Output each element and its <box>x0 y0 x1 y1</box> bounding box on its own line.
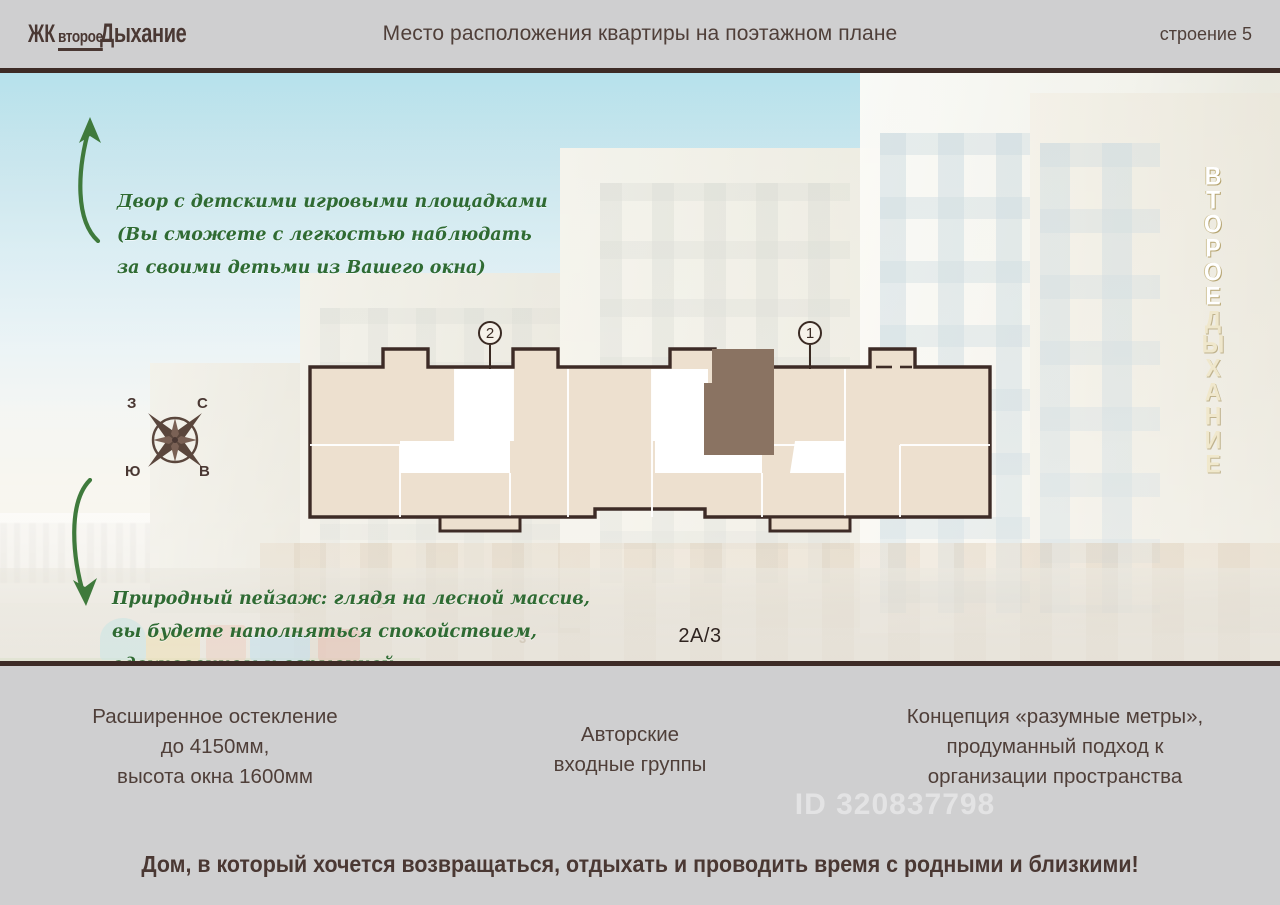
compass-north-label: С <box>197 395 208 412</box>
feature-line: продуманный подход к <box>840 732 1270 762</box>
feature-line: Концепция «разумные метры», <box>840 702 1270 732</box>
feature-line: до 4150мм, <box>10 732 420 762</box>
plan-marker-label: 1 <box>798 321 822 345</box>
feature-line: входные группы <box>440 750 820 780</box>
feature-list: Расширенное остекление до 4150мм, высота… <box>0 702 1280 792</box>
arrow-down-curved-icon <box>60 478 120 618</box>
floor-plan-drawing <box>300 323 1000 533</box>
building-number: строение 5 <box>1160 24 1252 45</box>
floor-plan[interactable]: 2А/3 2 1 <box>300 323 1000 533</box>
annotation-line: Двор с детскими игровыми площадками <box>117 186 548 219</box>
feature-line: высота окна 1600мм <box>10 762 420 792</box>
compass-rose: З С Ю В <box>125 391 225 489</box>
annotation-line: (Вы сможете с легкостью наблюдать <box>117 219 548 252</box>
annotation-line: вы будете наполняться спокойствием, <box>112 616 590 649</box>
bottom-panel: Расширенное остекление до 4150мм, высота… <box>0 666 1280 905</box>
tagline: Дом, в который хочется возвращаться, отд… <box>45 851 1235 878</box>
building-vertical-sign: В Т О Р О Е Д Ы Х А Н И Е <box>1196 165 1230 635</box>
feature-smart-meters: Концепция «разумные метры», продуманный … <box>830 702 1280 792</box>
plan-marker-1[interactable]: 1 <box>798 321 822 369</box>
feature-glazing: Расширенное остекление до 4150мм, высота… <box>0 702 430 792</box>
header-bar: ЖК второе Дыхание Место расположения ква… <box>0 0 1280 68</box>
compass-east-label: В <box>199 463 210 480</box>
compass-west-label: З <box>127 395 136 412</box>
compass-south-label: Ю <box>125 463 140 480</box>
annotation-line: Природный пейзаж: глядя на лесной массив… <box>112 583 590 616</box>
page-title: Место расположения квартиры на поэтажном… <box>0 22 1280 46</box>
poster-root: ЖК второе Дыхание Место расположения ква… <box>0 0 1280 905</box>
sign-letter: Е <box>1205 452 1220 477</box>
apartment-label: 2А/3 <box>655 625 745 648</box>
watermark-text: ID 320837798 <box>795 788 996 822</box>
photo-stage: 3 4 2 В Т О Р О Е Д Ы Х А Н И Е Двор с д… <box>0 73 1280 661</box>
feature-line: организации пространства <box>840 762 1270 792</box>
annotation-nature: Природный пейзаж: глядя на лесной массив… <box>112 583 590 661</box>
annotation-courtyard: Двор с детскими игровыми площадками (Вы … <box>117 186 548 285</box>
plan-marker-2[interactable]: 2 <box>478 321 502 369</box>
feature-line: Авторские <box>440 720 820 750</box>
annotation-line: за своими детьми из Вашего окна) <box>117 252 548 285</box>
feature-line: Расширенное остекление <box>10 702 420 732</box>
watermark-id: ID 320837798 <box>0 788 1280 822</box>
feature-entrance-groups: Авторские входные группы <box>430 702 830 780</box>
annotation-line: вдохновением и гармонией <box>112 649 590 661</box>
plan-marker-label: 2 <box>478 321 502 345</box>
